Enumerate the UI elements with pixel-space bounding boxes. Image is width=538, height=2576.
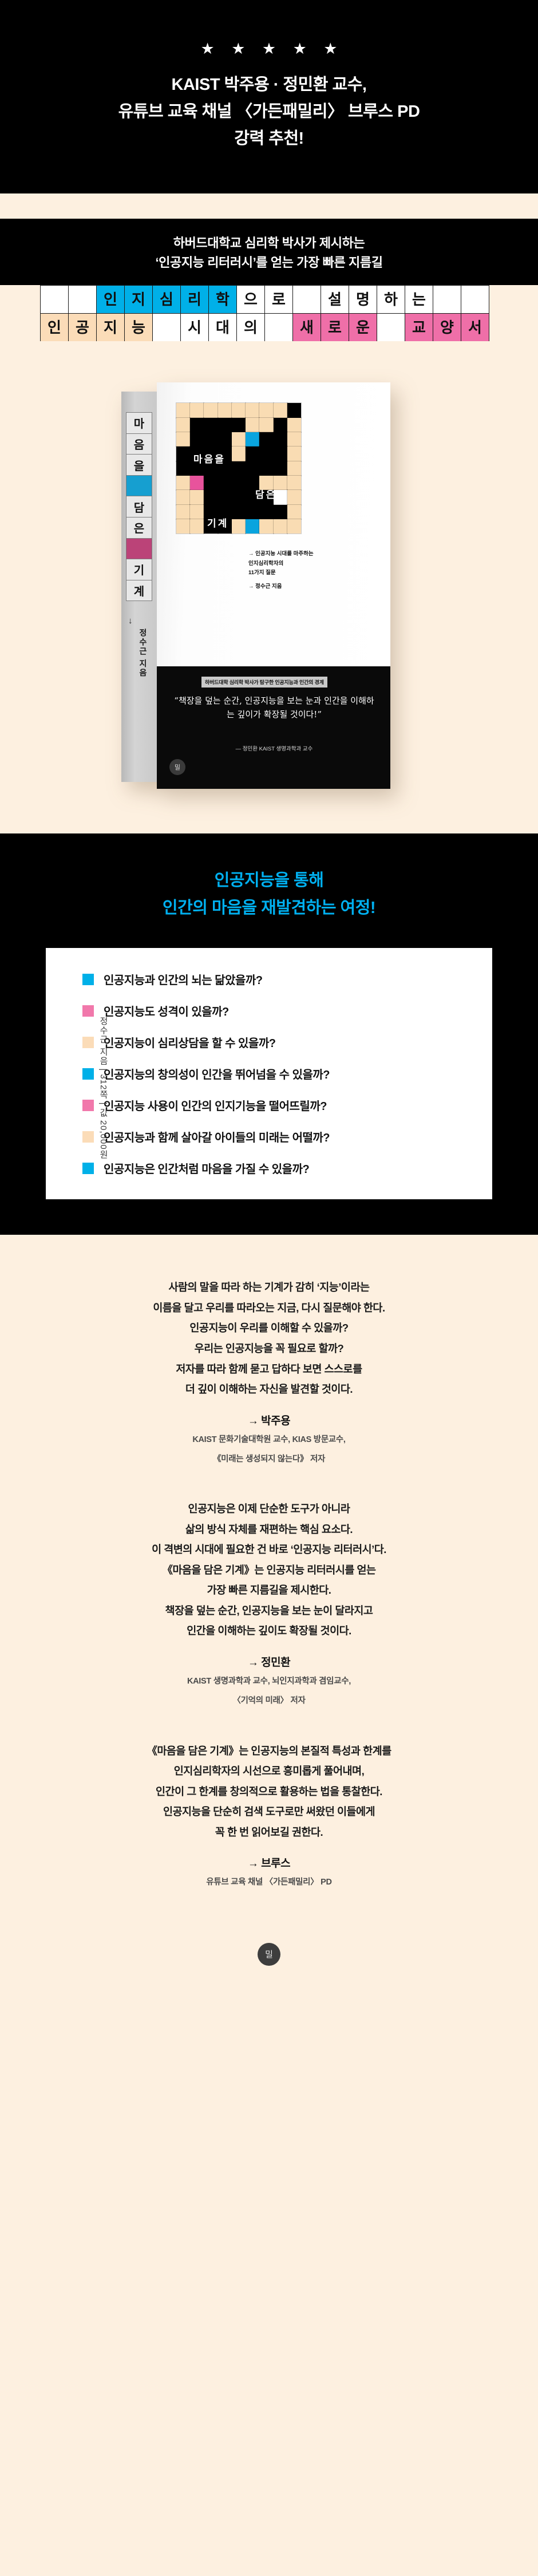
- cover-grid-cell: [232, 461, 246, 476]
- cover-grid-cell: [287, 447, 301, 461]
- cover-grid-cell: [190, 432, 204, 447]
- question-text: 인공지능의 창의성이 인간을 뛰어넘을 수 있을까?: [104, 1065, 330, 1082]
- cover-grid-cell: [232, 432, 246, 447]
- cover-grid-cell: [259, 519, 273, 534]
- hero-section: ★ ★ ★ ★ ★ KAIST 박주용 · 정민환 교수, 유튜브 교육 채널 …: [0, 0, 538, 193]
- spine-arrow-icon: ↓: [128, 616, 133, 626]
- question-item: 인공지능의 창의성이 인간을 뛰어넘을 수 있을까?: [82, 1065, 492, 1082]
- testimonial-line: 삶의 방식 자체를 재편하는 핵심 요소다.: [0, 1519, 538, 1540]
- title-grid-cell: 인: [96, 285, 125, 314]
- testimonial-author-role: 〈기억의 미래〉 저자: [0, 1693, 538, 1708]
- testimonial-line: 저자를 따라 함께 묻고 답하다 보면 스스로를: [0, 1359, 538, 1380]
- title-grid-cell: 으: [236, 285, 265, 314]
- spine-title-cell: [126, 476, 152, 497]
- cover-grid-cell: [232, 476, 246, 490]
- cover-grid-cell: [287, 403, 301, 417]
- title-grid-cell: [40, 285, 69, 314]
- cover-grid-cell: [287, 418, 301, 432]
- cover-bottom-band: 하버드대학 심리학 박사가 탐구한 인공지능과 인간의 경계 “책장을 덮는 순…: [157, 666, 390, 789]
- testimonial-line: 사람의 말을 따라 하는 기계가 감히 ‘지능’이라는: [0, 1277, 538, 1298]
- testimonial-line: 더 깊이 이해하는 자신을 발견할 것이다.: [0, 1379, 538, 1400]
- cover-grid-cell: [246, 447, 259, 461]
- cover-grid-cell: [274, 505, 287, 519]
- testimonial-line: 책장을 덮는 순간, 인공지능을 보는 눈이 달라지고: [0, 1601, 538, 1621]
- hero-line-1: KAIST 박주용 · 정민환 교수,: [172, 72, 367, 98]
- cover-grid-cell: [190, 476, 204, 490]
- cover-grid-cell: [218, 490, 232, 504]
- title-grid-cell: 하: [377, 285, 405, 314]
- title-grid-cell: [264, 313, 293, 342]
- spine-title-cell: 기: [126, 559, 152, 580]
- cover-grid-cell: [287, 519, 301, 534]
- book-front-cover: 마음을 담은 기계 → 인공지능 시대를 마주하는 인지심리학자의 11가지 질…: [157, 382, 390, 789]
- title-grid-cell: 의: [236, 313, 265, 342]
- title-grid-cell: 능: [124, 313, 153, 342]
- title-grid-cell: 양: [433, 313, 461, 342]
- question-text: 인공지능과 함께 살아갈 아이들의 미래는 어떨까?: [104, 1128, 330, 1145]
- publisher-logo-footer-icon: 밀: [258, 1943, 280, 1966]
- question-text: 인공지능과 인간의 뇌는 닮았을까?: [104, 971, 263, 987]
- testimonial-block: 《마음을 담은 기계》는 인공지능의 본질적 특성과 한계를인지심리학자의 시선…: [0, 1741, 538, 1890]
- cover-endorsement-quote: “책장을 덮는 순간, 인공지능을 보는 눈과 인간을 이해하는 깊이가 확장될…: [174, 694, 374, 722]
- question-bullet-icon: [82, 1005, 94, 1017]
- questions-heading-line-1: 인공지능을 통해: [0, 867, 538, 894]
- cover-grid-cell: [287, 505, 301, 519]
- cover-grid-cell: [232, 519, 246, 534]
- cover-subtitle-line-2: 인지심리학자의: [248, 559, 314, 568]
- cover-grid-cell: [218, 432, 232, 447]
- title-grid-cell: 서: [461, 313, 489, 342]
- cover-grid-cell: [232, 418, 246, 432]
- banner-line-1: 하버드대학교 심리학 박사가 제시하는: [0, 234, 538, 253]
- star-rating-icon: ★ ★ ★ ★ ★: [194, 41, 343, 57]
- cover-grid-cell: [218, 418, 232, 432]
- cover-pixel-grid: [176, 403, 301, 534]
- cover-endorsement-author: — 정민환 KAIST 생명과학과 교수: [174, 744, 374, 752]
- cover-subtitle-line-1: → 인공지능 시대를 마주하는: [248, 550, 314, 559]
- testimonial-author-name: → 정민환: [0, 1654, 538, 1669]
- spine-title-cell: 담: [126, 496, 152, 517]
- cover-grid-cell: [259, 403, 273, 417]
- cover-grid-cell: [287, 476, 301, 490]
- question-bullet-icon: [82, 974, 94, 985]
- title-grid-cell: [433, 285, 461, 314]
- title-grid-row-1: 인지심리학으로설명하는: [40, 285, 498, 313]
- spine-title-cell: 계: [126, 580, 152, 601]
- cover-grid-cell: [274, 461, 287, 476]
- title-grid-cell: 대: [208, 313, 237, 342]
- cover-grid-cell: [246, 403, 259, 417]
- cover-grid-cell: [274, 403, 287, 417]
- testimonial-line: 우리는 인공지능을 꼭 필요로 할까?: [0, 1338, 538, 1359]
- cover-title-line-1: 마음을: [193, 451, 226, 465]
- cover-grid-cell: [259, 432, 273, 447]
- question-item: 인공지능이 심리상담을 할 수 있을까?: [82, 1034, 492, 1050]
- question-list: 인공지능과 인간의 뇌는 닮았을까?인공지능도 성격이 있을까?인공지능이 심리…: [46, 948, 492, 1199]
- cover-grid-cell: [218, 476, 232, 490]
- cover-grid-cell: [232, 403, 246, 417]
- title-banner: 하버드대학교 심리학 박사가 제시하는 ‘인공지능 리터러시’를 얻는 가장 빠…: [0, 219, 538, 285]
- cover-grid-cell: [259, 447, 273, 461]
- cover-grid-cell: [259, 505, 273, 519]
- spine-title-cell: 마: [126, 413, 152, 434]
- title-grid-cell: 명: [349, 285, 377, 314]
- title-grid-cell: [152, 313, 181, 342]
- title-grid-cell: 로: [264, 285, 293, 314]
- cover-grid-cell: [190, 490, 204, 504]
- cover-grid-cell: [176, 418, 190, 432]
- banner-line-2: ‘인공지능 리터러시’를 얻는 가장 빠른 지름길: [0, 253, 538, 272]
- cover-grid-cell: [287, 461, 301, 476]
- testimonial-author-role: 유튜브 교육 채널 〈가든패밀리〉 PD: [0, 1875, 538, 1890]
- testimonial-line: 인공지능은 이제 단순한 도구가 아니라: [0, 1499, 538, 1519]
- cover-grid-cell: [274, 432, 287, 447]
- testimonial-author-name: → 브루스: [0, 1855, 538, 1870]
- question-text: 인공지능도 성격이 있을까?: [104, 1002, 229, 1019]
- question-text: 인공지능 사용이 인간의 인지기능을 떨어뜨릴까?: [104, 1097, 327, 1113]
- cover-grid-cell: [246, 461, 259, 476]
- spine-title-cell: 은: [126, 517, 152, 539]
- cover-author: → 정수근 지음: [248, 582, 282, 590]
- cover-grid-cell: [274, 519, 287, 534]
- spine-title-cell: 음: [126, 434, 152, 455]
- cover-grid-cell: [176, 403, 190, 417]
- cover-grid-cell: [176, 519, 190, 534]
- book-spec-caption: 정수근 지음 | 312쪽 | 값 20,000원: [90, 1017, 109, 1159]
- testimonial-author-name: → 박주용: [0, 1412, 538, 1428]
- testimonial-line: 인지심리학자의 시선으로 흥미롭게 풀어내며,: [0, 1761, 538, 1781]
- testimonial-line: 《마음을 담은 기계》는 인공지능 리터러시를 얻는: [0, 1560, 538, 1581]
- cover-grid-cell: [204, 476, 217, 490]
- question-text: 인공지능은 인간처럼 마음을 가질 수 있을까?: [104, 1160, 309, 1176]
- cover-subtitle-line-3: 11가지 질문: [248, 568, 314, 578]
- cover-grid-cell: [259, 418, 273, 432]
- cover-title-line-3: 기계: [207, 515, 228, 530]
- testimonial-line: 인공지능이 우리를 이해할 수 있을까?: [0, 1318, 538, 1338]
- testimonial-line: 이 격변의 시대에 필요한 건 바로 ‘인공지능 리터러시’다.: [0, 1539, 538, 1560]
- testimonial-block: 인공지능은 이제 단순한 도구가 아니라삶의 방식 자체를 재편하는 핵심 요소…: [0, 1499, 538, 1708]
- title-grid-cell: 지: [96, 313, 125, 342]
- title-grid-cell: 는: [405, 285, 433, 314]
- title-grid-cell: 지: [124, 285, 153, 314]
- cover-grid-cell: [246, 432, 259, 447]
- book-showcase: 정수근 지음 | 312쪽 | 값 20,000원 마음을담은기계 ↓ 정수근 …: [0, 341, 538, 833]
- cover-grid-cell: [176, 447, 190, 461]
- title-grid-cell: 로: [321, 313, 349, 342]
- testimonial-line: 이름을 달고 우리를 따라오는 지금, 다시 질문해야 한다.: [0, 1298, 538, 1318]
- spine-author: 정수근 지음: [129, 629, 149, 678]
- cover-grid-cell: [259, 461, 273, 476]
- cover-grid-cell: [176, 476, 190, 490]
- title-grid-cell: [68, 285, 97, 314]
- cover-grid-cell: [190, 505, 204, 519]
- testimonials-section: 사람의 말을 따라 하는 기계가 감히 ‘지능’이라는이름을 달고 우리를 따라…: [0, 1235, 538, 1923]
- title-grid-cell: [292, 285, 321, 314]
- cover-grid-cell: [176, 461, 190, 476]
- testimonial-line: 인간을 이해하는 깊이도 확장될 것이다.: [0, 1621, 538, 1641]
- cover-grid-cell: [176, 432, 190, 447]
- cover-grid-cell: [274, 447, 287, 461]
- cover-grid-cell: [246, 519, 259, 534]
- testimonial-line: 《마음을 담은 기계》는 인공지능의 본질적 특성과 한계를: [0, 1741, 538, 1761]
- spine-title-cell: [126, 539, 152, 560]
- title-grid-cell: 공: [68, 313, 97, 342]
- questions-section: 인공지능을 통해 인간의 마음을 재발견하는 여정! 인공지능과 인간의 뇌는 …: [0, 833, 538, 1235]
- cover-grid-cell: [232, 447, 246, 461]
- question-item: 인공지능 사용이 인간의 인지기능을 떨어뜨릴까?: [82, 1097, 492, 1113]
- question-item: 인공지능도 성격이 있을까?: [82, 1002, 492, 1019]
- question-item: 인공지능과 인간의 뇌는 닮았을까?: [82, 971, 492, 987]
- cover-grid-cell: [287, 432, 301, 447]
- title-grid-cell: 인: [40, 313, 69, 342]
- cover-grid-cell: [190, 519, 204, 534]
- publisher-logo-icon: 밀: [169, 759, 185, 775]
- cover-grid-cell: [274, 418, 287, 432]
- title-grid-cell: 운: [349, 313, 377, 342]
- cover-title-line-2: 담은: [255, 487, 276, 501]
- question-text: 인공지능이 심리상담을 할 수 있을까?: [104, 1034, 275, 1050]
- cover-grid-cell: [190, 418, 204, 432]
- title-grid-cell: 리: [180, 285, 209, 314]
- title-grid-cell: 심: [152, 285, 181, 314]
- hero-line-2: 유튜브 교육 채널 〈가든패밀리〉 브루스 PD: [118, 98, 420, 125]
- title-grid-cell: [461, 285, 489, 314]
- cover-grid-cell: [287, 490, 301, 504]
- testimonial-line: 꼭 한 번 읽어보길 권한다.: [0, 1822, 538, 1843]
- testimonial-author-role: KAIST 생명과학과 교수, 뇌인지과학과 겸임교수,: [0, 1674, 538, 1689]
- promo-page: ★ ★ ★ ★ ★ KAIST 박주용 · 정민환 교수, 유튜브 교육 채널 …: [0, 0, 538, 1996]
- testimonial-block: 사람의 말을 따라 하는 기계가 감히 ‘지능’이라는이름을 달고 우리를 따라…: [0, 1277, 538, 1467]
- cover-grid-cell: [246, 418, 259, 432]
- book-spine-title: 마음을담은기계: [126, 412, 152, 601]
- cover-grid-cell: [176, 490, 190, 504]
- hero-line-3: 강력 추천!: [234, 125, 303, 152]
- testimonial-line: 인간이 그 한계를 창의적으로 활용하는 법을 통찰한다.: [0, 1781, 538, 1802]
- book-3d-image: 마음을담은기계 ↓ 정수근 지음 마음을 담은 기계 → 인공지능 시대를 마주…: [121, 382, 390, 789]
- testimonial-line: 인공지능을 단순히 검색 도구로만 써왔던 이들에게: [0, 1801, 538, 1822]
- title-grid-cell: 시: [180, 313, 209, 342]
- testimonial-line: 가장 빠른 지름길을 제시한다.: [0, 1580, 538, 1601]
- cover-grid-cell: [204, 490, 217, 504]
- title-grid-cell: 학: [208, 285, 237, 314]
- title-grid-cell: 교: [405, 313, 433, 342]
- cover-grid-cell: [190, 403, 204, 417]
- cover-grid-cell: [204, 403, 217, 417]
- question-item: 인공지능은 인간처럼 마음을 가질 수 있을까?: [82, 1160, 492, 1176]
- title-grid-cell: 설: [321, 285, 349, 314]
- cover-grid-cell: [218, 403, 232, 417]
- questions-heading-line-2: 인간의 마음을 재발견하는 여정!: [0, 894, 538, 922]
- question-bullet-icon: [82, 1163, 94, 1174]
- cover-grid-cell: [204, 432, 217, 447]
- title-grid: 인지심리학으로설명하는 인공지능시대의새로운교양서: [40, 285, 498, 341]
- title-grid-cell: 새: [292, 313, 321, 342]
- cover-grid-cell: [204, 418, 217, 432]
- cover-grid-cell: [176, 505, 190, 519]
- spacer-top: [0, 193, 538, 219]
- testimonial-author-role: KAIST 문화기술대학원 교수, KIAS 방문교수,: [0, 1432, 538, 1447]
- cover-subtitle: → 인공지능 시대를 마주하는 인지심리학자의 11가지 질문: [248, 550, 314, 578]
- title-grid-row-2: 인공지능시대의새로운교양서: [40, 313, 498, 341]
- page-footer: 밀: [0, 1923, 538, 1996]
- testimonial-author-role: 《미래는 생성되지 않는다》 저자: [0, 1452, 538, 1467]
- cover-grid-cell: [246, 505, 259, 519]
- cover-tagline: 하버드대학 심리학 박사가 탐구한 인공지능과 인간의 경계: [201, 677, 327, 688]
- spine-title-cell: 을: [126, 455, 152, 476]
- book-spine: 마음을담은기계 ↓ 정수근 지음: [121, 392, 157, 782]
- title-grid-cell: [377, 313, 405, 342]
- cover-grid-cell: [232, 490, 246, 504]
- question-item: 인공지능과 함께 살아갈 아이들의 미래는 어떨까?: [82, 1128, 492, 1145]
- cover-grid-cell: [232, 505, 246, 519]
